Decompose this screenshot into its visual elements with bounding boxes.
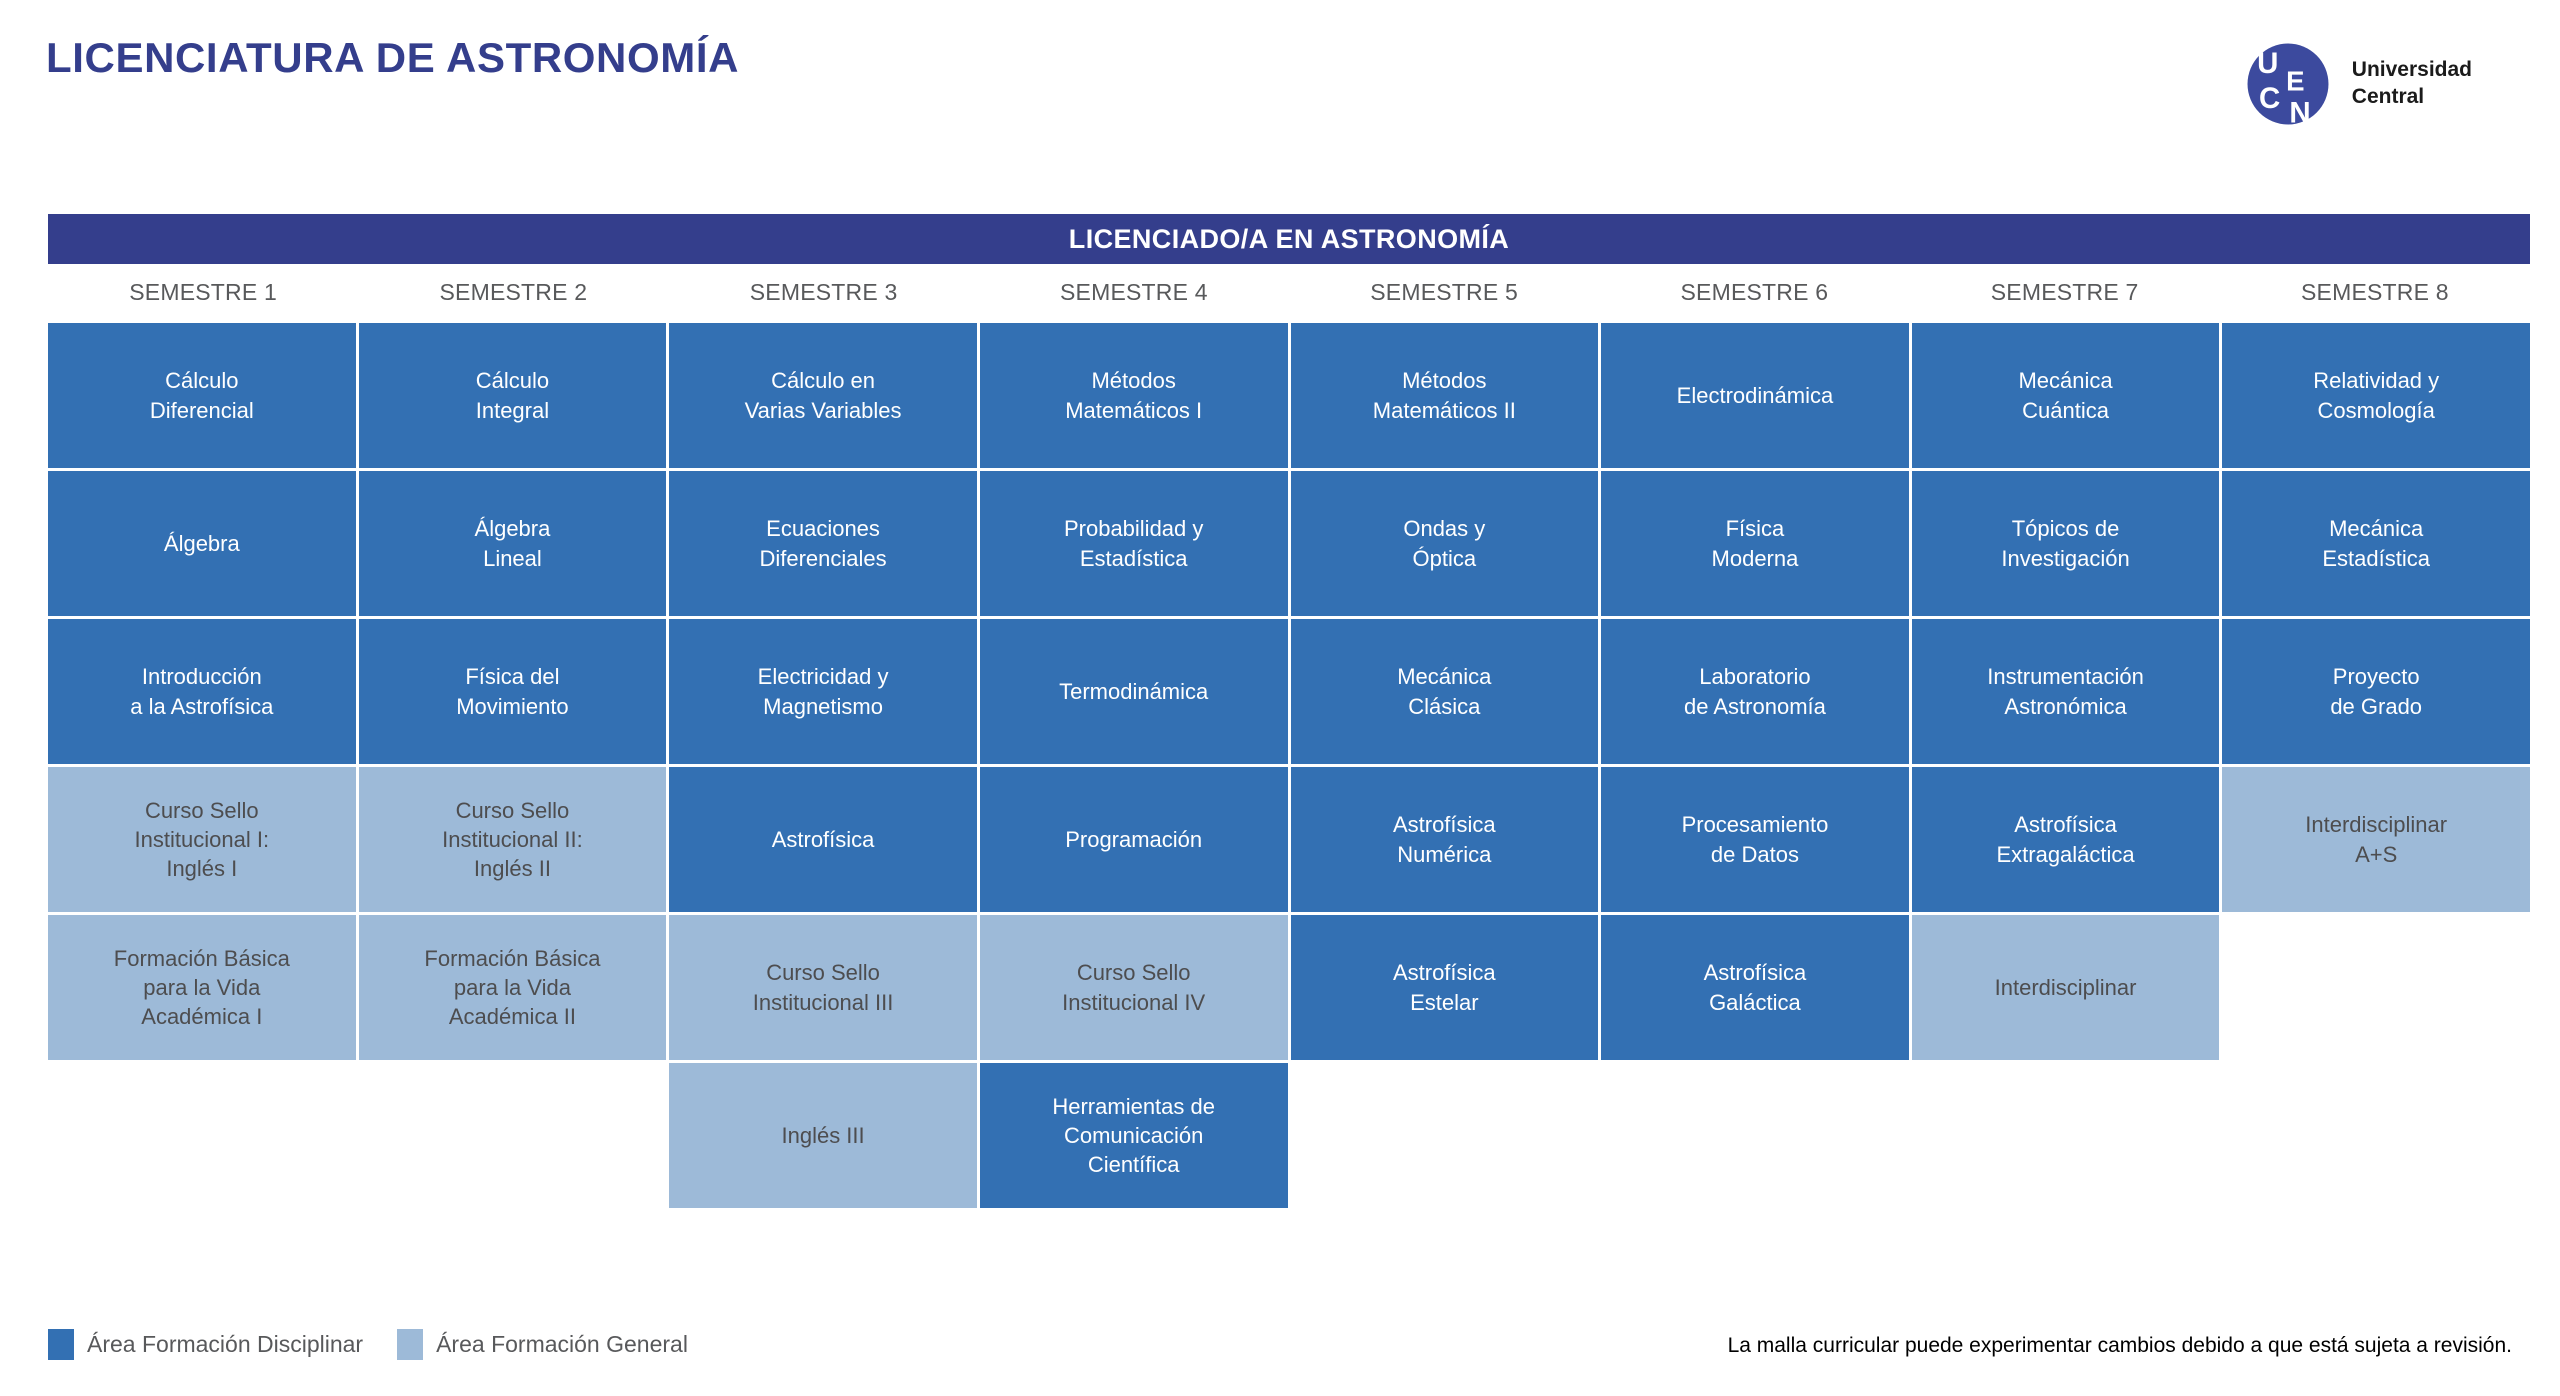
course-cell-curso-sello-institucional-ii-ingles-ii[interactable]: Curso Sello Institucional II: Inglés II: [359, 767, 667, 912]
grid-empty-slot: [1912, 1063, 2220, 1208]
course-cell-programacion[interactable]: Programación: [980, 767, 1288, 912]
semester-label-4: SEMESTRE 4: [979, 272, 1289, 312]
degree-banner: LICENCIADO/A EN ASTRONOMÍA: [48, 214, 2530, 264]
course-cell-fisica-moderna[interactable]: Física Moderna: [1601, 471, 1909, 616]
course-cell-mecanica-cuantica[interactable]: Mecánica Cuántica: [1912, 323, 2220, 468]
course-cell-metodos-matematicos-ii[interactable]: Métodos Matemáticos II: [1291, 323, 1599, 468]
page-title: LICENCIATURA DE ASTRONOMÍA: [46, 34, 739, 82]
course-cell-astrofisica-numerica[interactable]: Astrofísica Numérica: [1291, 767, 1599, 912]
legend-item-general: Área Formación General: [397, 1329, 688, 1360]
svg-text:U: U: [2257, 47, 2278, 80]
legend-swatch-disciplinar-icon: [48, 1329, 74, 1360]
course-cell-instrumentacion-astronomica[interactable]: Instrumentación Astronómica: [1912, 619, 2220, 764]
svg-text:E: E: [2286, 65, 2304, 96]
grid-empty-slot: [2222, 1063, 2530, 1208]
course-cell-proyecto-de-grado[interactable]: Proyecto de Grado: [2222, 619, 2530, 764]
course-cell-electricidad-magnetismo[interactable]: Electricidad y Magnetismo: [669, 619, 977, 764]
course-cell-topicos-investigacion[interactable]: Tópicos de Investigación: [1912, 471, 2220, 616]
course-cell-fisica-del-movimiento[interactable]: Física del Movimiento: [359, 619, 667, 764]
legend-swatch-general-icon: [397, 1329, 423, 1360]
semester-label-5: SEMESTRE 5: [1289, 272, 1599, 312]
course-cell-astrofisica-galactica[interactable]: Astrofísica Galáctica: [1601, 915, 1909, 1060]
course-cell-mecanica-clasica[interactable]: Mecánica Clásica: [1291, 619, 1599, 764]
course-cell-electrodinamica[interactable]: Electrodinámica: [1601, 323, 1909, 468]
brand-logo: U C E N Universidad Central: [2242, 38, 2472, 130]
course-cell-interdisciplinar-a-mas-s[interactable]: Interdisciplinar A+S: [2222, 767, 2530, 912]
semester-label-6: SEMESTRE 6: [1599, 272, 1909, 312]
ucen-circle-logo-icon: U C E N: [2242, 38, 2334, 130]
svg-text:N: N: [2289, 97, 2310, 130]
course-cell-ingles-iii[interactable]: Inglés III: [669, 1063, 977, 1208]
legend: Área Formación DisciplinarÁrea Formación…: [48, 1329, 706, 1360]
malla-curricular-page: LICENCIATURA DE ASTRONOMÍA U C E N Unive…: [0, 0, 2560, 1396]
semester-label-8: SEMESTRE 8: [2220, 272, 2530, 312]
course-cell-herramientas-comunicacion-cientifica[interactable]: Herramientas de Comunicación Científica: [980, 1063, 1288, 1208]
course-cell-calculo-diferencial[interactable]: Cálculo Diferencial: [48, 323, 356, 468]
semester-label-3: SEMESTRE 3: [669, 272, 979, 312]
legend-item-disciplinar: Área Formación Disciplinar: [48, 1329, 363, 1360]
course-cell-ondas-optica[interactable]: Ondas y Óptica: [1291, 471, 1599, 616]
course-cell-astrofisica-extragalactica[interactable]: Astrofísica Extragaláctica: [1912, 767, 2220, 912]
semester-header-row: SEMESTRE 1SEMESTRE 2SEMESTRE 3SEMESTRE 4…: [48, 272, 2530, 312]
course-cell-curso-sello-institucional-i-ingles-i[interactable]: Curso Sello Institucional I: Inglés I: [48, 767, 356, 912]
course-cell-probabilidad-estadistica[interactable]: Probabilidad y Estadística: [980, 471, 1288, 616]
course-cell-introduccion-astrofisica[interactable]: Introducción a la Astrofísica: [48, 619, 356, 764]
course-cell-astrofisica-estelar[interactable]: Astrofísica Estelar: [1291, 915, 1599, 1060]
brand-wordmark: Universidad Central: [2352, 57, 2472, 111]
legend-label-disciplinar: Área Formación Disciplinar: [87, 1331, 363, 1358]
course-cell-algebra[interactable]: Álgebra: [48, 471, 356, 616]
course-cell-procesamiento-de-datos[interactable]: Procesamiento de Datos: [1601, 767, 1909, 912]
course-grid: Cálculo DiferencialCálculo IntegralCálcu…: [48, 323, 2530, 1041]
course-cell-mecanica-estadistica[interactable]: Mecánica Estadística: [2222, 471, 2530, 616]
course-cell-curso-sello-institucional-iv[interactable]: Curso Sello Institucional IV: [980, 915, 1288, 1060]
grid-empty-slot: [359, 1063, 667, 1208]
legend-label-general: Área Formación General: [436, 1331, 688, 1358]
course-cell-calculo-varias-variables[interactable]: Cálculo en Varias Variables: [669, 323, 977, 468]
course-cell-astrofisica[interactable]: Astrofísica: [669, 767, 977, 912]
grid-empty-slot: [2222, 915, 2530, 1060]
semester-label-2: SEMESTRE 2: [358, 272, 668, 312]
brand-line-central: Central: [2352, 84, 2472, 111]
course-cell-relatividad-cosmologia[interactable]: Relatividad y Cosmología: [2222, 323, 2530, 468]
grid-empty-slot: [1291, 1063, 1599, 1208]
disclaimer-text: La malla curricular puede experimentar c…: [1728, 1334, 2512, 1358]
course-cell-termodinamica[interactable]: Termodinámica: [980, 619, 1288, 764]
course-cell-ecuaciones-diferenciales[interactable]: Ecuaciones Diferenciales: [669, 471, 977, 616]
course-cell-algebra-lineal[interactable]: Álgebra Lineal: [359, 471, 667, 616]
course-cell-metodos-matematicos-i[interactable]: Métodos Matemáticos I: [980, 323, 1288, 468]
course-cell-formacion-basica-vida-academica-i[interactable]: Formación Básica para la Vida Académica …: [48, 915, 356, 1060]
semester-label-7: SEMESTRE 7: [1910, 272, 2220, 312]
semester-label-1: SEMESTRE 1: [48, 272, 358, 312]
course-cell-formacion-basica-vida-academica-ii[interactable]: Formación Básica para la Vida Académica …: [359, 915, 667, 1060]
grid-empty-slot: [48, 1063, 356, 1208]
svg-text:C: C: [2259, 82, 2280, 115]
course-cell-curso-sello-institucional-iii[interactable]: Curso Sello Institucional III: [669, 915, 977, 1060]
course-cell-laboratorio-astronomia[interactable]: Laboratorio de Astronomía: [1601, 619, 1909, 764]
grid-empty-slot: [1601, 1063, 1909, 1208]
course-cell-calculo-integral[interactable]: Cálculo Integral: [359, 323, 667, 468]
course-cell-interdisciplinar[interactable]: Interdisciplinar: [1912, 915, 2220, 1060]
brand-line-universidad: Universidad: [2352, 57, 2472, 84]
